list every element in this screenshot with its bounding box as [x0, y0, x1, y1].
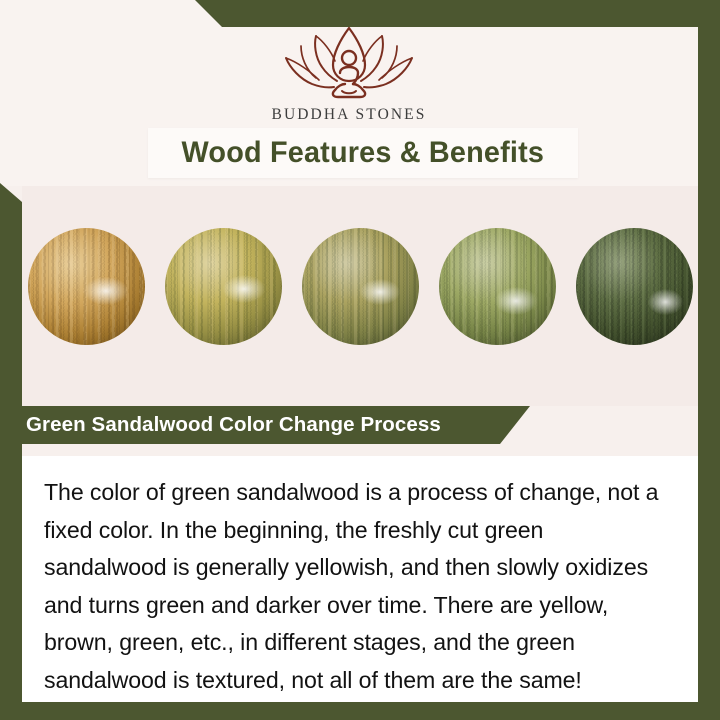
poster-root: BUDDHA STONES Wood Features & Benefits [0, 0, 720, 720]
brand-logo-block: BUDDHA STONES [0, 24, 698, 124]
page-title: Wood Features & Benefits [182, 136, 545, 170]
bead-stage-4 [439, 228, 556, 345]
headline-band: Wood Features & Benefits [148, 128, 578, 178]
bead-shading [302, 228, 419, 345]
section-ribbon: Green Sandalwood Color Change Process [0, 406, 530, 444]
bead-stage-2 [165, 228, 282, 345]
bead-shading [28, 228, 145, 345]
bead-shading [439, 228, 556, 345]
wood-bead-row [22, 228, 698, 345]
bead-stage-3 [302, 228, 419, 345]
bead-stage-1 [28, 228, 145, 345]
bead-shading [576, 228, 693, 345]
frame-bottom-bar [0, 702, 720, 720]
body-panel: The color of green sandalwood is a proce… [22, 456, 698, 702]
body-paragraph: The color of green sandalwood is a proce… [44, 474, 663, 699]
brand-name: BUDDHA STONES [272, 106, 427, 124]
lotus-meditation-logo-icon [274, 24, 424, 102]
bead-shading [165, 228, 282, 345]
bead-stage-5 [576, 228, 693, 345]
frame-right-bar [698, 0, 720, 720]
section-title: Green Sandalwood Color Change Process [26, 413, 441, 437]
